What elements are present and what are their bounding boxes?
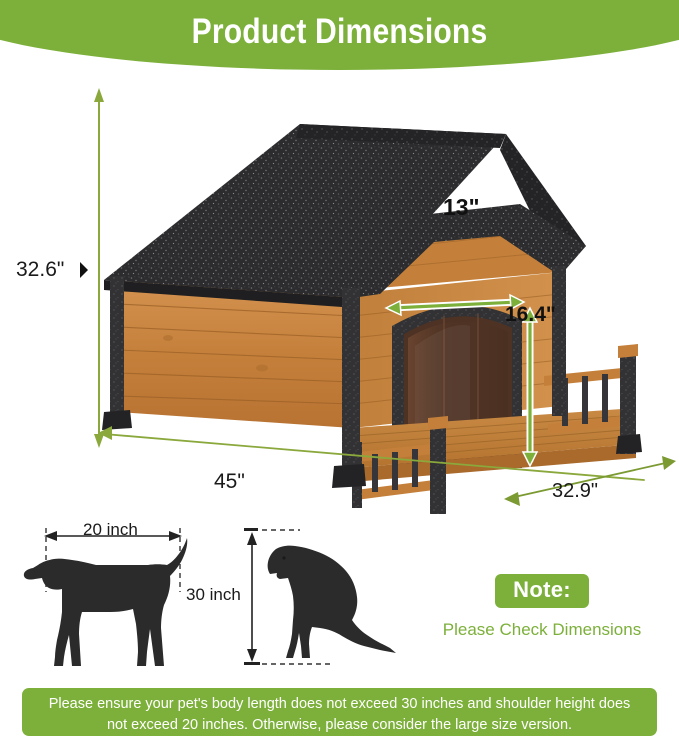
dimension-label-door-width: 13" [443,194,480,221]
dimension-label-door-height: 16.4" [505,303,556,327]
page-title: Product Dimensions [48,12,632,52]
sitting-dog-silhouette [268,546,396,658]
note-block: Note: Please Check Dimensions [424,574,660,640]
footer-warning-banner: Please ensure your pet's body length doe… [22,688,657,736]
footer-line-1: Please ensure your pet's body length doe… [49,696,595,712]
dimension-height-line [80,88,104,448]
header-banner: Product Dimensions [0,0,679,76]
standing-dog-group [24,528,187,666]
dimension-label-width: 45" [214,470,245,494]
note-text: Please Check Dimensions [424,620,660,640]
sitting-dog-group [244,528,396,665]
door-width-text: 13" [443,194,480,220]
product-illustration [0,76,679,516]
standing-dog-silhouette [24,538,187,666]
sitting-dog-height-label: 30 inch [186,585,241,605]
door-height-text: 16.4" [505,303,556,326]
dog-house-drawing [0,76,679,516]
note-badge: Note: [495,574,589,608]
dimension-label-depth: 32.9" [552,480,598,503]
standing-dog-length-label: 20 inch [83,520,138,540]
dimension-label-height: 32.6" [16,258,64,282]
